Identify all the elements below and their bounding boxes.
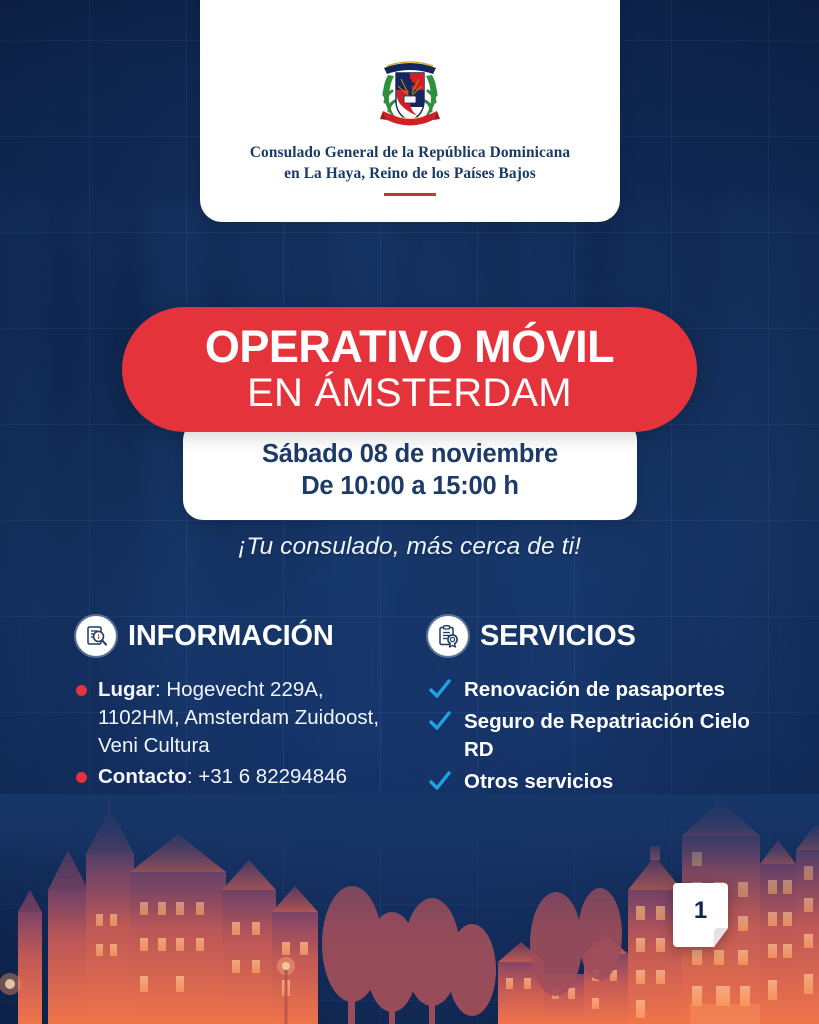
consulate-title-line1: Consulado General de la República Domini… xyxy=(250,142,570,163)
list-item: Otros servicios xyxy=(428,768,768,795)
tagline: ¡Tu consulado, más cerca de ti! xyxy=(0,533,819,561)
check-icon xyxy=(428,678,452,700)
service-label: Seguro de Repatriación Cielo RD xyxy=(464,710,750,760)
check-icon xyxy=(428,710,452,732)
check-icon xyxy=(428,770,452,792)
information-title: INFORMACIÓN xyxy=(128,620,334,653)
services-heading: SERVICIOS xyxy=(428,616,768,656)
dominican-republic-coat-of-arms xyxy=(374,55,446,133)
consulate-title-line2: en La Haya, Reino de los Países Bajos xyxy=(250,163,570,184)
event-time: De 10:00 a 15:00 h xyxy=(301,470,519,502)
list-item: Contacto: +31 6 82294846 xyxy=(76,763,406,791)
consulate-header-card: Consulado General de la República Domini… xyxy=(200,0,620,222)
list-item: Renovación de pasaportes xyxy=(428,676,768,703)
svg-text:i: i xyxy=(98,633,100,641)
information-list: Lugar: Hogevecht 229A, 1102HM, Amsterdam… xyxy=(76,676,406,791)
event-date-card: Sábado 08 de noviembre De 10:00 a 15:00 … xyxy=(183,420,637,520)
detail-columns: i INFORMACIÓN Lugar: Hogevecht 229A, 110… xyxy=(0,616,819,800)
list-item: Seguro de Repatriación Cielo RD xyxy=(428,708,768,763)
info-value: +31 6 82294846 xyxy=(198,765,347,788)
info-separator: : xyxy=(155,678,166,701)
page-number-badge: 1 xyxy=(672,880,729,950)
services-title: SERVICIOS xyxy=(480,620,636,653)
services-list: Renovación de pasaportes Seguro de Repat… xyxy=(428,676,768,795)
service-label: Otros servicios xyxy=(464,770,613,793)
page-number: 1 xyxy=(672,880,729,950)
list-item: Lugar: Hogevecht 229A, 1102HM, Amsterdam… xyxy=(76,676,406,760)
bullet-dot-icon xyxy=(76,772,87,783)
event-title-banner: OPERATIVO MÓVIL EN ÁMSTERDAM xyxy=(122,307,697,432)
information-heading: i INFORMACIÓN xyxy=(76,616,406,656)
information-column: i INFORMACIÓN Lugar: Hogevecht 229A, 110… xyxy=(76,616,406,800)
info-separator: : xyxy=(187,765,198,788)
event-date: Sábado 08 de noviembre xyxy=(262,438,558,470)
bullet-dot-icon xyxy=(76,685,87,696)
poster-root: Consulado General de la República Domini… xyxy=(0,0,819,1024)
info-label: Lugar xyxy=(98,678,155,701)
clipboard-seal-icon xyxy=(428,616,468,656)
event-title-sub: EN ÁMSTERDAM xyxy=(247,371,572,416)
services-column: SERVICIOS Renovación de pasaportes Segur… xyxy=(428,616,768,800)
header-divider-rule xyxy=(384,193,436,196)
event-title-main: OPERATIVO MÓVIL xyxy=(205,324,614,370)
info-label: Contacto xyxy=(98,765,187,788)
consulate-title: Consulado General de la República Domini… xyxy=(250,142,570,185)
document-magnifier-icon: i xyxy=(76,616,116,656)
service-label: Renovación de pasaportes xyxy=(464,678,725,701)
